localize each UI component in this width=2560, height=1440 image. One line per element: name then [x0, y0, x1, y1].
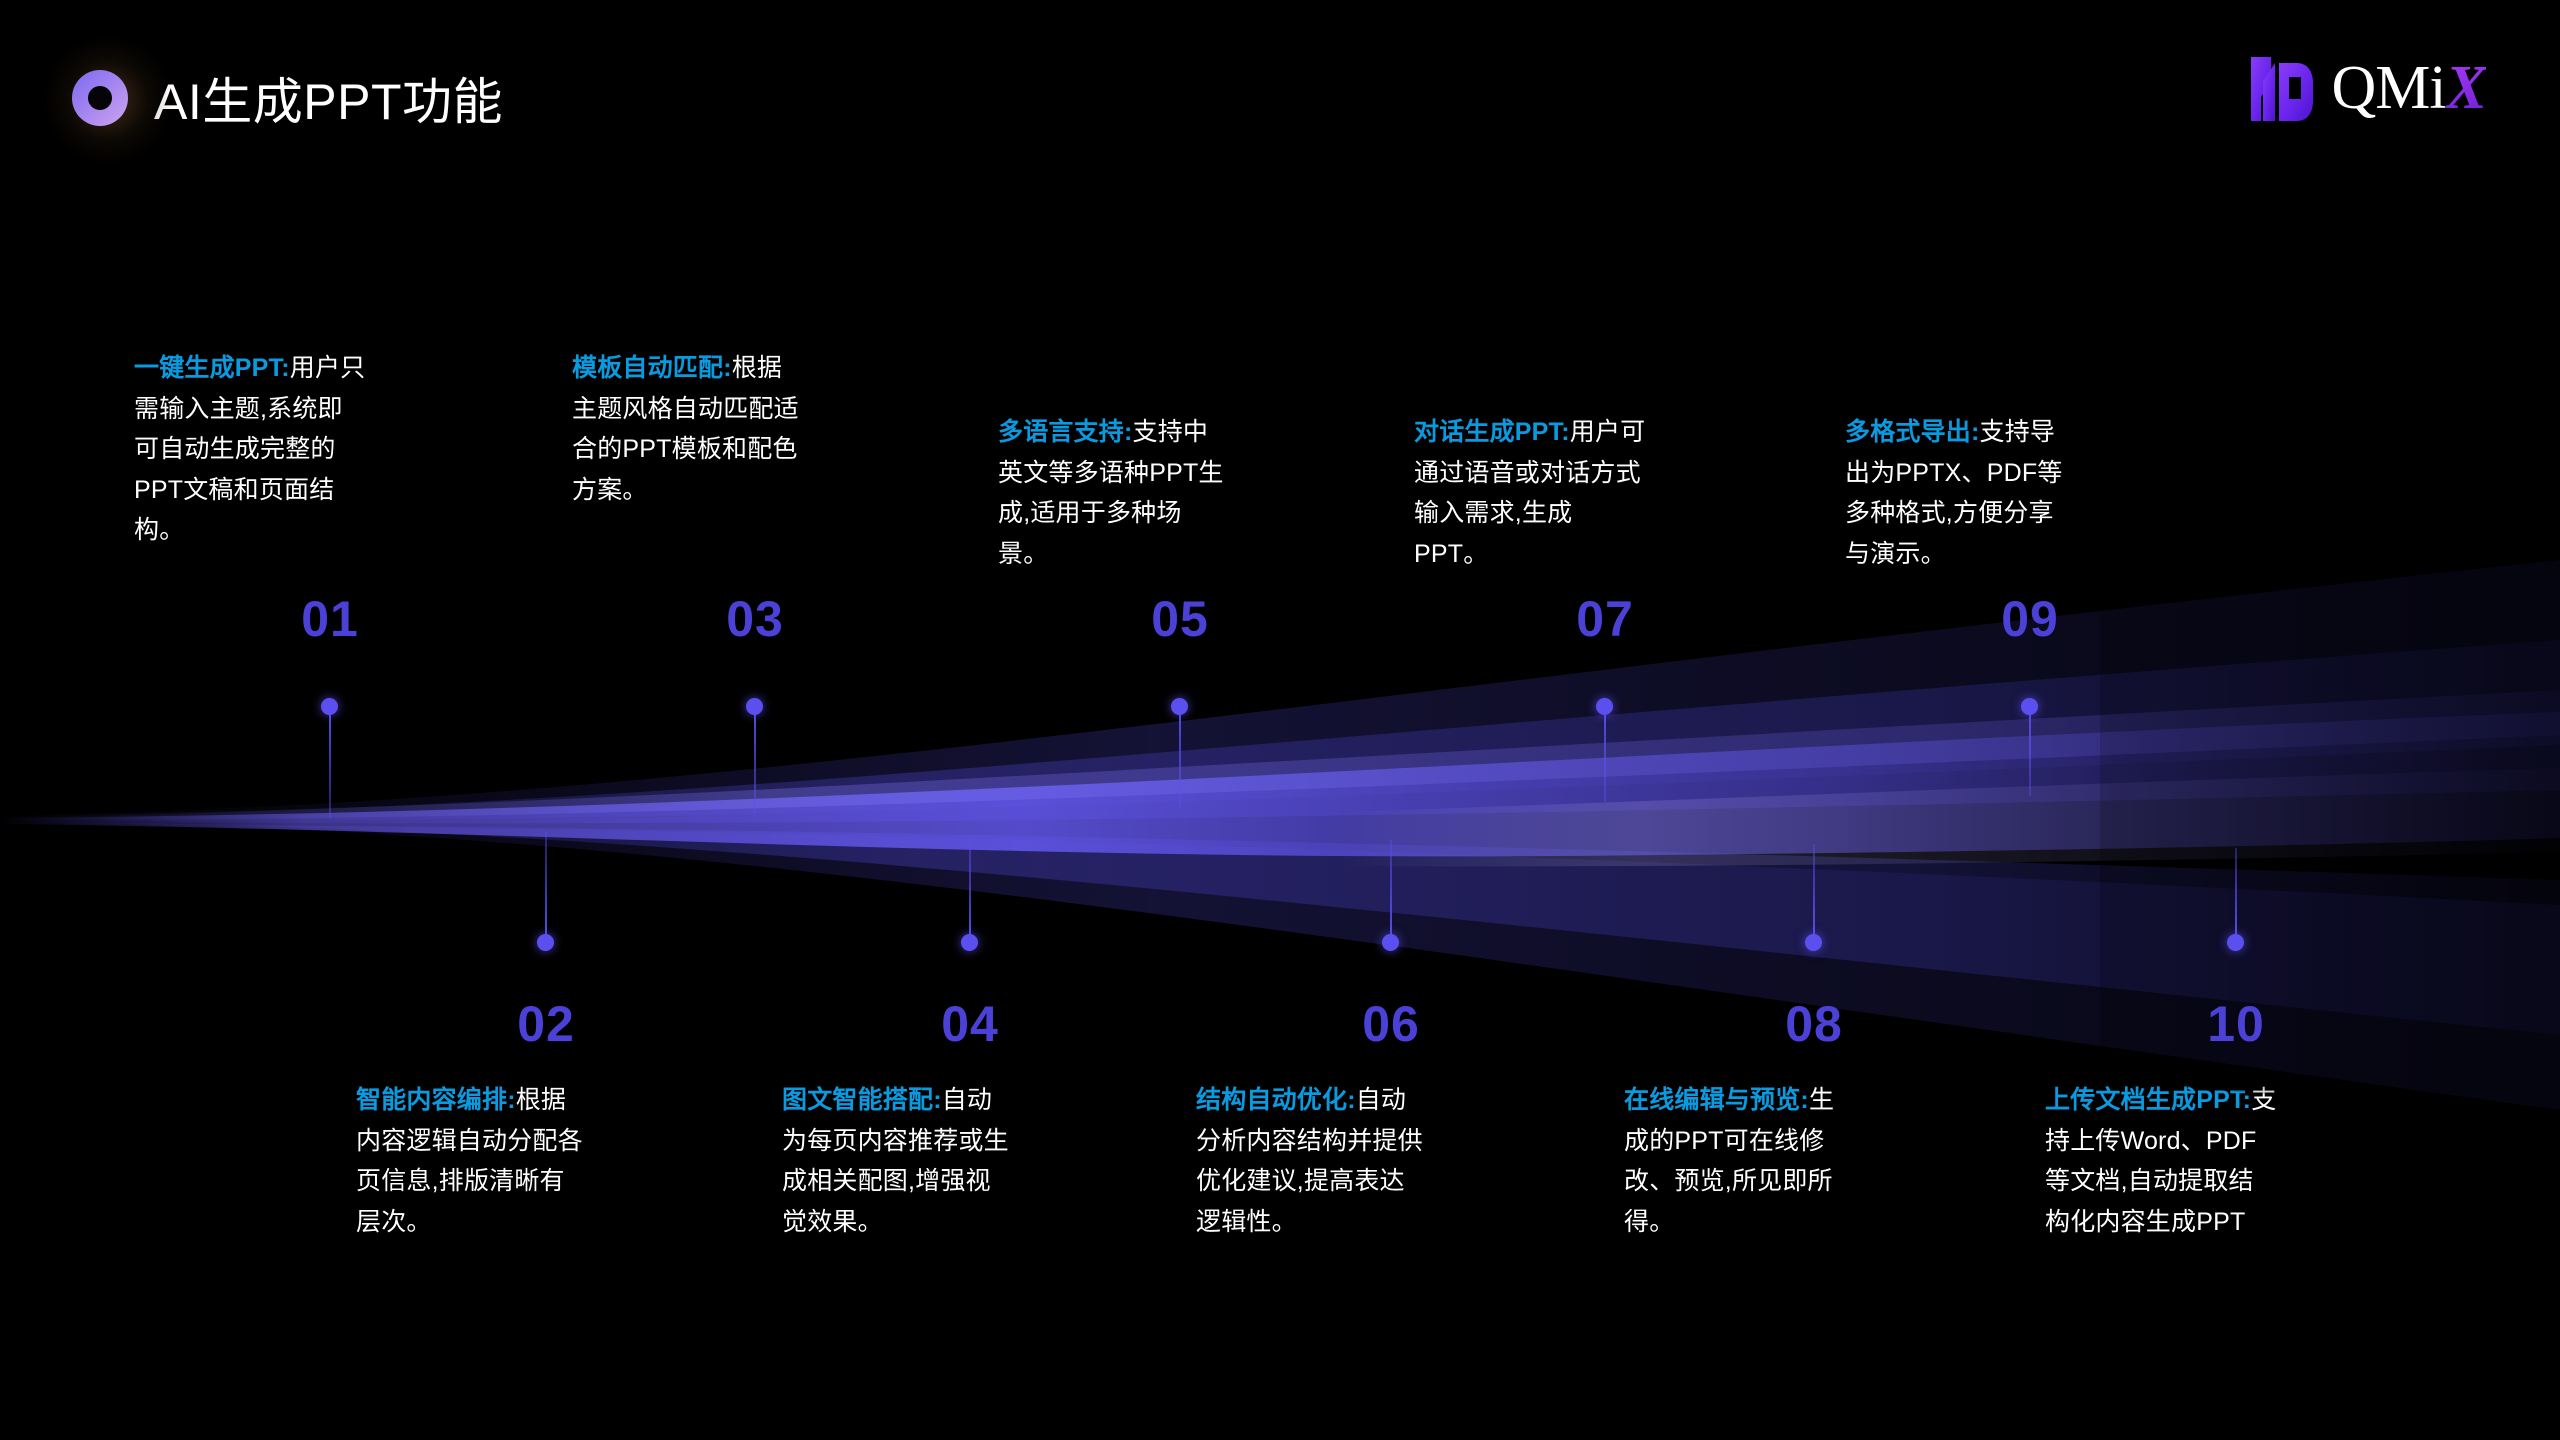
timeline-dot-01[interactable] — [321, 698, 338, 715]
page-title: AI生成PPT功能 — [154, 62, 503, 134]
timeline-stem-10 — [2235, 848, 2237, 942]
title-group: AI生成PPT功能 — [72, 62, 503, 134]
brand-letter-i: i — [2429, 57, 2445, 119]
timeline-stem-05 — [1179, 706, 1181, 808]
yh-monogram-icon — [2249, 51, 2327, 125]
timeline-number-05: 05 — [1110, 590, 1250, 648]
timeline-number-02: 02 — [476, 995, 616, 1053]
timeline-stem-01 — [329, 706, 331, 818]
timeline-stem-02 — [545, 832, 547, 942]
brand-letter-x: X — [2446, 57, 2486, 119]
slide-canvas: AI生成PPT功能 — [0, 0, 2560, 1440]
timeline-stem-09 — [2029, 706, 2031, 796]
timeline-number-07: 07 — [1535, 590, 1675, 648]
timeline-dot-05[interactable] — [1171, 698, 1188, 715]
timeline-dot-02[interactable] — [537, 934, 554, 951]
timeline-stem-03 — [754, 706, 756, 814]
brand-wordmark: QMiX — [2331, 57, 2486, 119]
timeline-dot-08[interactable] — [1805, 934, 1822, 951]
brand-letter-m: M — [2375, 57, 2429, 119]
timeline-number-04: 04 — [900, 995, 1040, 1053]
timeline-number-01: 01 — [260, 590, 400, 648]
timeline-dot-09[interactable] — [2021, 698, 2038, 715]
timeline-dot-04[interactable] — [961, 934, 978, 951]
timeline-number-06: 06 — [1321, 995, 1461, 1053]
slide-header: AI生成PPT功能 — [0, 0, 2560, 190]
timeline-number-08: 08 — [1744, 995, 1884, 1053]
timeline-dot-07[interactable] — [1596, 698, 1613, 715]
brand-letter-q: Q — [2331, 57, 2375, 119]
timeline-stem-08 — [1813, 844, 1815, 942]
timeline-dot-03[interactable] — [746, 698, 763, 715]
timeline-dot-10[interactable] — [2227, 934, 2244, 951]
timeline: 01 03 05 07 09 02 04 06 08 10 — [0, 0, 2560, 1440]
timeline-number-03: 03 — [685, 590, 825, 648]
timeline-stem-04 — [969, 836, 971, 942]
timeline-number-10: 10 — [2166, 995, 2306, 1053]
brand-logo: QMiX — [2249, 44, 2486, 132]
timeline-stem-06 — [1390, 840, 1392, 942]
timeline-dot-06[interactable] — [1382, 934, 1399, 951]
timeline-number-09: 09 — [1960, 590, 2100, 648]
timeline-stem-07 — [1604, 706, 1606, 802]
circle-ring-icon — [72, 70, 128, 126]
